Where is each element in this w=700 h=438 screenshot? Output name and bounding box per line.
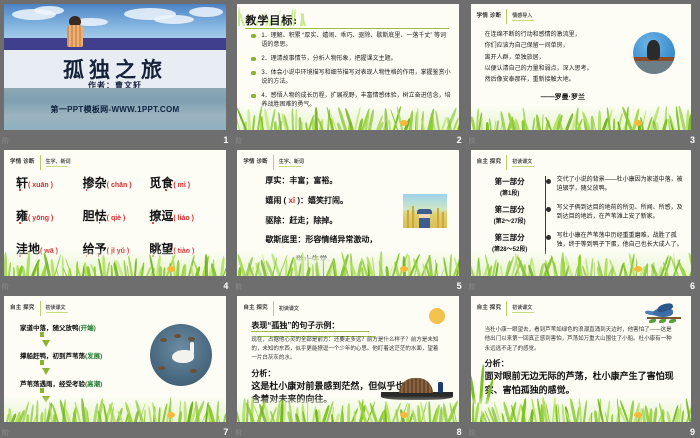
grass-blade bbox=[593, 410, 597, 422]
cloud-shape bbox=[34, 6, 64, 15]
slide-number: 8 bbox=[457, 427, 462, 437]
crescent-moon-icon bbox=[429, 308, 445, 324]
duckling-icon bbox=[190, 369, 197, 373]
goose-neck bbox=[190, 342, 194, 354]
grass-blade bbox=[4, 252, 7, 276]
child-body bbox=[419, 218, 430, 228]
section-tag: 自主 探究 bbox=[243, 305, 268, 312]
objective-text: 3．体会小说中环境描写和细节描写对表现人物性格的作用，掌握鉴赏小说的方法。 bbox=[261, 69, 451, 88]
slide-cell-3[interactable]: 学情 诊断 情感导入 在连绵不断的行动和感情的激流里， 你们应该为自己保留一间单… bbox=[467, 0, 700, 146]
left-marker: 阶 bbox=[235, 428, 242, 438]
grass-blade bbox=[428, 401, 431, 422]
vocab-hanzi: 撩逗 bbox=[149, 209, 173, 223]
grass-footer bbox=[471, 396, 691, 422]
subtitle-wrap: 初读课文 bbox=[46, 304, 68, 314]
slide-cell-7[interactable]: 自主 探究 初读课文 家道中落，随父放鸭(开端) 撑船赶鸭，初到芦苇荡(发展) … bbox=[0, 292, 233, 438]
flow-step: 家道中落，随父放鸭(开端) bbox=[20, 322, 150, 332]
definition-meaning: ：形容情绪异常激动， bbox=[297, 235, 377, 244]
part-title: 第二部分 bbox=[479, 204, 541, 215]
slide-thumbnail-grid: 孤独之旅 作者：曹文轩 第一PPT模板网-WWW.1PPT.COM 阶 1 教学… bbox=[0, 0, 700, 438]
vocab-pinyin: ( qiè ) bbox=[107, 215, 126, 222]
part-range: (第1段) bbox=[479, 188, 541, 197]
arrow-stem bbox=[40, 360, 44, 365]
vocab-pinyin: ( xuān ) bbox=[28, 182, 53, 189]
sun-icon bbox=[634, 266, 642, 272]
bullet-icon bbox=[251, 94, 256, 98]
definition-meaning: ：丰富；富裕。 bbox=[281, 176, 337, 185]
grass-blade bbox=[307, 400, 308, 422]
vocab-hanzi: 觅食 bbox=[149, 176, 173, 190]
part-range: (第2～27段) bbox=[479, 216, 541, 225]
grass-blade bbox=[312, 119, 315, 130]
underline bbox=[46, 312, 68, 314]
grass-blade bbox=[176, 260, 180, 276]
vocab-hanzi: 轩 bbox=[16, 176, 28, 190]
definition-term: 嬉闹 bbox=[265, 196, 281, 205]
definition-meaning: ：赶走；除掉。 bbox=[281, 216, 337, 225]
grass-blade bbox=[347, 403, 351, 422]
subtitle-wrap: 初读课文 bbox=[512, 304, 534, 314]
sky-background bbox=[4, 4, 226, 41]
vocab-pinyin: ( chān ) bbox=[107, 182, 132, 189]
vocab-hanzi: 胆怯 bbox=[83, 209, 107, 223]
vocab-item: 撩逗( liáo ) bbox=[149, 207, 216, 225]
leaf-icon bbox=[669, 319, 676, 323]
section-subtitle: 生字、新词 bbox=[279, 158, 304, 165]
rice-stalk bbox=[407, 210, 409, 228]
grass-blade bbox=[656, 122, 659, 130]
grass-blade bbox=[591, 412, 593, 422]
section-subtitle: 初读课文 bbox=[512, 158, 534, 165]
list-item: 2．理清故事情节，分析人物形象，把握课文主题。 bbox=[251, 55, 451, 64]
flow-step-text: 芦苇荡遇雨，经受考验 bbox=[20, 381, 85, 388]
emphasis-dot bbox=[165, 189, 167, 191]
section-tag: 学情 诊断 bbox=[243, 159, 268, 166]
example-heading: 表现“孤独”的句子示例： bbox=[251, 320, 339, 331]
objectives-heading: 教学目标: bbox=[245, 12, 298, 28]
slide-6-structure[interactable]: 自主 探究 初读课文 第一部分 (第1段) 交代了小说的背景——杜小康因为家道中… bbox=[471, 150, 691, 276]
part-label: 第二部分 (第2～27段) bbox=[479, 204, 541, 225]
emphasis-dot bbox=[99, 222, 101, 224]
grass-footer bbox=[471, 104, 691, 130]
objective-text: 1．理解、积累 “厚实、嬉闹、乖巧、驱除、歇斯底里、一落千丈” 等词语的意思。 bbox=[261, 32, 451, 51]
bullet-icon bbox=[251, 71, 256, 75]
grass-footer bbox=[237, 250, 459, 276]
slide-number: 3 bbox=[690, 135, 695, 145]
section-subtitle: 情感导入 bbox=[512, 12, 534, 19]
slide-header: 学情 诊断 生字、新词 bbox=[243, 155, 304, 170]
flow-step-tag: (发展) bbox=[85, 353, 102, 360]
left-marker: 阶 bbox=[2, 282, 9, 292]
grass-blade bbox=[550, 255, 558, 276]
grass-blade bbox=[110, 265, 112, 276]
grass-blade bbox=[681, 410, 684, 422]
quote-line: 离开人群，单独旅居， bbox=[485, 55, 615, 61]
grass-blade bbox=[561, 404, 564, 422]
grass-blade bbox=[183, 263, 187, 276]
slide-number: 4 bbox=[223, 281, 228, 291]
section-tag: 学情 诊断 bbox=[10, 159, 35, 166]
list-item: 3．体会小说中环境描写和细节描写对表现人物性格的作用，掌握鉴赏小说的方法。 bbox=[251, 69, 451, 88]
grass-blade bbox=[263, 108, 269, 130]
slide-header: 学情 诊断 情感导入 bbox=[477, 9, 535, 24]
section-tag: 自主 探究 bbox=[10, 305, 35, 312]
grass-blade bbox=[331, 414, 334, 422]
definition-term: 歇斯底里 bbox=[265, 235, 297, 244]
left-marker: 阶 bbox=[469, 282, 476, 292]
slide-9-analysis[interactable]: 自主 探究 初读课文 当杜小康一眼望去，看到芦苇如绿色的浪潮直涌到天边时，他害怕… bbox=[471, 296, 691, 422]
slide-header: 自主 探究 初读课文 bbox=[477, 301, 535, 316]
underline bbox=[512, 312, 534, 314]
seated-boy-figure bbox=[67, 16, 83, 46]
horizon-band bbox=[4, 38, 226, 50]
left-marker: 阶 bbox=[235, 136, 242, 146]
example-body: 现在，占据他心灵的全部是前方：还要走多远？前方是什么样子？前方是未知的，未知的东… bbox=[251, 336, 441, 363]
leaf-icon bbox=[659, 319, 666, 323]
grass-blade bbox=[653, 407, 658, 422]
grass-blade bbox=[183, 401, 187, 422]
rice-field-photo bbox=[403, 194, 447, 228]
subtitle-wrap: 情感导入 bbox=[512, 12, 534, 22]
grass-blade bbox=[106, 261, 111, 276]
vocab-item: 觅食( mì ) bbox=[149, 174, 216, 192]
duckling-icon bbox=[174, 334, 181, 338]
rice-stalk bbox=[437, 208, 439, 228]
slide-number: 1 bbox=[223, 135, 228, 145]
passage-body: 当杜小康一眼望去，看到芦苇如绿色的浪潮直涌到天边时，他害怕了——这是他出门以来第… bbox=[485, 326, 677, 354]
grass-blade bbox=[13, 267, 15, 276]
heading-rule bbox=[245, 28, 449, 29]
sun-icon bbox=[634, 412, 642, 418]
grass-blade bbox=[56, 268, 60, 276]
rice-stalk bbox=[412, 206, 414, 228]
grass-blade bbox=[428, 255, 433, 276]
grass-blade bbox=[478, 258, 481, 276]
emphasis-dot bbox=[19, 222, 21, 224]
photo-ground bbox=[633, 61, 675, 74]
divider bbox=[273, 301, 274, 316]
section-tag: 自主 探究 bbox=[477, 305, 502, 312]
grass-footer bbox=[237, 396, 459, 422]
slide-number: 9 bbox=[690, 427, 695, 437]
flow-step-tag: (高潮) bbox=[85, 381, 102, 388]
structure-row: 第一部分 (第1段) 交代了小说的背景——杜小康因为家道中落，被迫辍学，随父放鸭… bbox=[479, 176, 685, 197]
underline bbox=[512, 20, 534, 22]
grass-blade bbox=[542, 114, 544, 130]
grass-blade bbox=[388, 119, 391, 130]
timeline-node-icon bbox=[546, 179, 551, 184]
definition-pinyin: xī bbox=[288, 196, 295, 205]
quote-line: 然后像安泰那样，重新接触大地。 bbox=[485, 77, 615, 83]
heading-underline bbox=[251, 331, 369, 332]
boy-body bbox=[67, 25, 83, 47]
grass-blade bbox=[604, 258, 608, 276]
slide-header: 自主 探究 初读课文 bbox=[10, 301, 68, 316]
left-marker: 阶 bbox=[469, 136, 476, 146]
slide-4-vocabulary-pinyin[interactable]: 学情 诊断 生字、新词 轩( xuān ) 掺杂( chān ) 觅食( mì … bbox=[4, 150, 226, 276]
grass-blade bbox=[317, 408, 321, 422]
arrow-stem bbox=[40, 332, 44, 337]
vocab-pinyin: ( liáo ) bbox=[173, 215, 194, 222]
slide-number: 7 bbox=[223, 427, 228, 437]
photo-figure bbox=[647, 40, 660, 60]
slide-cell-8[interactable]: 自主 探究 初读课文 表现“孤独”的句子示例： 现在，占据他心灵的全部是前方：还… bbox=[233, 292, 466, 438]
boatman-figure bbox=[438, 382, 443, 393]
grass-blade bbox=[409, 110, 414, 130]
grass-blade bbox=[569, 398, 576, 422]
grass-blade bbox=[36, 400, 38, 422]
left-marker: 阶 bbox=[469, 428, 476, 438]
subtitle-wrap: 生字、新词 bbox=[279, 158, 304, 168]
definition-term: 厚实 bbox=[265, 176, 281, 185]
section-subtitle: 初读课文 bbox=[512, 304, 534, 311]
underline bbox=[512, 166, 534, 168]
underline bbox=[46, 166, 68, 168]
definition-row: 驱除：赶走；除掉。 bbox=[265, 216, 415, 227]
grass-blade bbox=[26, 414, 29, 422]
slide-number: 5 bbox=[457, 281, 462, 291]
grass-blade bbox=[141, 262, 144, 276]
sun-icon bbox=[167, 412, 175, 418]
quote-signature: ——罗曼·罗兰 bbox=[541, 92, 585, 102]
definition-term: 驱除 bbox=[265, 216, 281, 225]
definition-row: 歇斯底里：形容情绪异常激动， bbox=[265, 235, 415, 246]
slide-header: 自主 探究 初读课文 bbox=[477, 155, 535, 170]
grass-blade bbox=[293, 257, 298, 276]
grass-footer bbox=[4, 250, 226, 276]
subtitle-wrap: 初读课文 bbox=[279, 305, 299, 312]
underline bbox=[279, 166, 301, 168]
divider bbox=[506, 9, 507, 24]
grass-blade bbox=[501, 413, 505, 422]
grass-footer bbox=[471, 250, 691, 276]
divider bbox=[40, 301, 41, 316]
grass-blade bbox=[134, 258, 137, 276]
grass-blade bbox=[536, 113, 542, 130]
grass-blade bbox=[474, 402, 480, 422]
grass-blade bbox=[342, 411, 344, 422]
grass-blade bbox=[283, 399, 287, 422]
slide-5-vocabulary-meaning[interactable]: 学情 诊断 生字、新词 厚实：丰富；富裕。 嬉闹 ( xī )：嬉笑打闹。 驱除… bbox=[237, 150, 459, 276]
grass-blade bbox=[613, 117, 615, 130]
section-tag: 自主 探究 bbox=[477, 159, 502, 166]
grass-blade bbox=[36, 261, 38, 276]
slide-header: 学情 诊断 生字、新词 bbox=[10, 155, 71, 170]
duckling-icon bbox=[158, 366, 165, 370]
bird-illustration bbox=[645, 302, 685, 324]
grass-blade bbox=[291, 108, 294, 130]
watermark-text: 第一PPT模板网-WWW.1PPT.COM bbox=[4, 104, 226, 115]
definition-row: 厚实：丰富；富裕。 bbox=[265, 176, 415, 187]
leaf-icon bbox=[649, 319, 656, 323]
grass-blade bbox=[237, 407, 239, 422]
left-marker: 阶 bbox=[2, 136, 9, 146]
grass-blade bbox=[500, 265, 503, 276]
section-subtitle: 生字、新词 bbox=[46, 158, 71, 165]
vocab-item: 轩( xuān ) bbox=[16, 174, 83, 192]
definition-meaning: ：嬉笑打闹。 bbox=[300, 196, 348, 205]
grass-blade bbox=[611, 414, 613, 422]
grass-blade bbox=[87, 410, 89, 422]
objectives-list: 1．理解、积累 “厚实、嬉闹、乖巧、驱除、歇斯底里、一落千丈” 等词语的意思。 … bbox=[251, 32, 451, 115]
slide-cell-5[interactable]: 学情 诊断 生字、新词 厚实：丰富；富裕。 嬉闹 ( xī )：嬉笑打闹。 驱除… bbox=[233, 146, 466, 292]
grass-blade bbox=[26, 251, 31, 276]
slide-number: 6 bbox=[690, 281, 695, 291]
slide-cell-9[interactable]: 自主 探究 初读课文 当杜小康一眼望去，看到芦苇如绿色的浪潮直涌到天边时，他害怕… bbox=[467, 292, 700, 438]
vocab-hanzi: 掺杂 bbox=[83, 176, 107, 190]
grass-blade bbox=[578, 398, 582, 422]
grass-blade bbox=[449, 254, 452, 276]
quote-block: 在连绵不断的行动和感情的激流里， 你们应该为自己保留一间单房， 离开人群，单独旅… bbox=[485, 32, 615, 88]
grass-blade bbox=[323, 258, 324, 276]
grass-blade bbox=[594, 262, 596, 276]
slide-cell-4[interactable]: 学情 诊断 生字、新词 轩( xuān ) 掺杂( chān ) 觅食( mì … bbox=[0, 146, 233, 292]
grass-blade bbox=[312, 264, 315, 276]
sun-icon bbox=[634, 120, 642, 126]
vocab-pinyin: ( yōng ) bbox=[28, 215, 53, 222]
vocab-item: 掺杂( chān ) bbox=[83, 174, 150, 192]
child-hat bbox=[417, 209, 432, 214]
timeline-node-icon bbox=[546, 235, 551, 240]
emphasis-dot bbox=[152, 222, 154, 224]
part-text: 写父子俩到达目的地前的所见、所闻、所感，及到达目的地后，在芦苇滩上安了新家。 bbox=[557, 204, 685, 222]
duckling-icon bbox=[160, 338, 167, 342]
grass-blade bbox=[458, 412, 459, 422]
grass-blade bbox=[481, 116, 484, 130]
slide-7-flow[interactable]: 自主 探究 初读课文 家道中落，随父放鸭(开端) 撑船赶鸭，初到芦苇荡(发展) … bbox=[4, 296, 226, 422]
emphasis-dot bbox=[19, 189, 21, 191]
grass-blade bbox=[252, 115, 255, 130]
part-text: 写杜小康在芦苇荡中历经重重磨难，战胜了孤独，终于等到鸭子下蛋，他自己也长大成人了… bbox=[557, 232, 685, 250]
grass-blade bbox=[301, 121, 303, 130]
grass-blade bbox=[144, 409, 146, 422]
divider bbox=[40, 155, 41, 170]
grass-blade bbox=[583, 400, 588, 422]
cloud-shape bbox=[154, 15, 194, 24]
objective-text: 2．理清故事情节，分析人物形象，把握课文主题。 bbox=[261, 55, 396, 64]
slide-8-analysis[interactable]: 自主 探究 初读课文 表现“孤独”的句子示例： 现在，占据他心灵的全部是前方：还… bbox=[237, 296, 459, 422]
slide-2-objectives[interactable]: 教学目标: 1．理解、积累 “厚实、嬉闹、乖巧、驱除、歇斯底里、一落千丈” 等词… bbox=[237, 4, 459, 130]
grass-blade bbox=[301, 252, 304, 276]
divider bbox=[273, 155, 274, 170]
arrow-stem bbox=[40, 388, 44, 393]
grass-blade bbox=[8, 262, 12, 276]
grass-blade bbox=[435, 110, 440, 130]
part-title: 第三部分 bbox=[479, 232, 541, 243]
bullet-icon bbox=[251, 57, 256, 61]
flow-step: 芦苇荡遇雨，经受考验(高潮) bbox=[20, 378, 150, 388]
left-marker: 阶 bbox=[235, 282, 242, 292]
list-item: 1．理解、积累 “厚实、嬉闹、乖巧、驱除、歇斯底里、一落千丈” 等词语的意思。 bbox=[251, 32, 451, 51]
quote-line: 以便认清自己的力量和弱点，深入思考。 bbox=[485, 66, 615, 72]
slide-cell-2[interactable]: 教学目标: 1．理解、积累 “厚实、嬉闹、乖巧、驱除、歇斯底里、一落千丈” 等词… bbox=[233, 0, 466, 146]
grass-blade bbox=[295, 109, 297, 130]
flow-step-tag: (开端) bbox=[79, 325, 96, 332]
slide-number: 2 bbox=[457, 135, 462, 145]
grass-blade bbox=[496, 119, 499, 130]
slide-cell-6[interactable]: 自主 探究 初读课文 第一部分 (第1段) 交代了小说的背景——杜小康因为家道中… bbox=[467, 146, 700, 292]
grass-blade bbox=[666, 411, 671, 422]
subtitle-wrap: 初读课文 bbox=[512, 158, 534, 168]
part-label: 第一部分 (第1段) bbox=[479, 176, 541, 197]
grass-blade bbox=[148, 406, 152, 422]
quote-line: 在连绵不断的行动和感情的激流里， bbox=[485, 32, 615, 38]
section-tag: 学情 诊断 bbox=[477, 13, 502, 20]
emphasis-dot bbox=[86, 189, 88, 191]
part-text: 交代了小说的背景——杜小康因为家道中落，被迫辍学，随父放鸭。 bbox=[557, 176, 685, 194]
grass-footer bbox=[4, 396, 226, 422]
left-marker: 阶 bbox=[2, 428, 9, 438]
vocab-grid: 轩( xuān ) 掺杂( chān ) 觅食( mì ) 雍( yōng ) … bbox=[16, 174, 216, 258]
grass-blade bbox=[495, 262, 499, 276]
section-subtitle: 初读课文 bbox=[46, 304, 68, 311]
slide-header: 自主 探究 初读课文 bbox=[243, 301, 299, 316]
grass-blade bbox=[158, 407, 161, 422]
arrow-down-icon bbox=[42, 340, 50, 347]
analysis-label: 分析： bbox=[251, 368, 275, 379]
duckling-icon bbox=[188, 337, 195, 341]
slide-cell-1[interactable]: 孤独之旅 作者：曹文轩 第一PPT模板网-WWW.1PPT.COM 阶 1 bbox=[0, 0, 233, 146]
grass-blade bbox=[247, 109, 251, 130]
pond-photo bbox=[150, 324, 212, 386]
grass-blade bbox=[471, 258, 476, 276]
section-subtitle: 初读课文 bbox=[279, 305, 299, 312]
quote-line: 你们应该为自己保留一间单房， bbox=[485, 43, 615, 49]
definition-row: 嬉闹 ( xī )：嬉笑打闹。 bbox=[265, 196, 415, 207]
structure-row: 第二部分 (第2～27段) 写父子俩到达目的地前的所见、所闻、所感，及到达目的地… bbox=[479, 204, 685, 225]
vocab-item: 雍( yōng ) bbox=[16, 207, 83, 225]
grass-blade bbox=[416, 108, 418, 130]
bench-photo bbox=[633, 32, 675, 74]
bullet-icon bbox=[251, 34, 256, 38]
part-title: 第一部分 bbox=[479, 176, 541, 187]
grass-blade bbox=[471, 116, 476, 130]
arrow-down-icon bbox=[42, 368, 50, 375]
flow-step-text: 撑船赶鸭，初到芦苇荡 bbox=[20, 353, 85, 360]
timeline-node-icon bbox=[546, 207, 551, 212]
flow-step: 撑船赶鸭，初到芦苇荡(发展) bbox=[20, 350, 150, 360]
divider bbox=[506, 301, 507, 316]
grass-blade bbox=[385, 265, 389, 276]
grass-footer bbox=[237, 104, 459, 130]
slide-1-cover[interactable]: 孤独之旅 作者：曹文轩 第一PPT模板网-WWW.1PPT.COM bbox=[4, 4, 226, 130]
sun-icon bbox=[167, 266, 175, 272]
grass-blade bbox=[598, 110, 601, 130]
slide-3-quote[interactable]: 学情 诊断 情感导入 在连绵不断的行动和感情的激流里， 你们应该为自己保留一间单… bbox=[471, 4, 691, 130]
subtitle-wrap: 生字、新词 bbox=[46, 158, 71, 168]
grass-blade bbox=[384, 108, 388, 130]
vocab-pinyin: ( mì ) bbox=[173, 182, 190, 189]
analysis-text: 面对眼前无边无际的芦荡，杜小康产生了害怕现实、害怕孤独的感觉。 bbox=[485, 370, 675, 397]
grass-blade bbox=[689, 268, 691, 276]
rice-stalk bbox=[442, 212, 444, 228]
divider bbox=[506, 155, 507, 170]
boat-canopy bbox=[399, 378, 433, 393]
grass-blade bbox=[61, 256, 63, 276]
vocab-hanzi: 雍 bbox=[16, 209, 28, 223]
vocab-item: 胆怯( qiè ) bbox=[83, 207, 150, 225]
flow-step-text: 家道中落，随父放鸭 bbox=[20, 325, 79, 332]
cloud-shape bbox=[189, 7, 223, 17]
